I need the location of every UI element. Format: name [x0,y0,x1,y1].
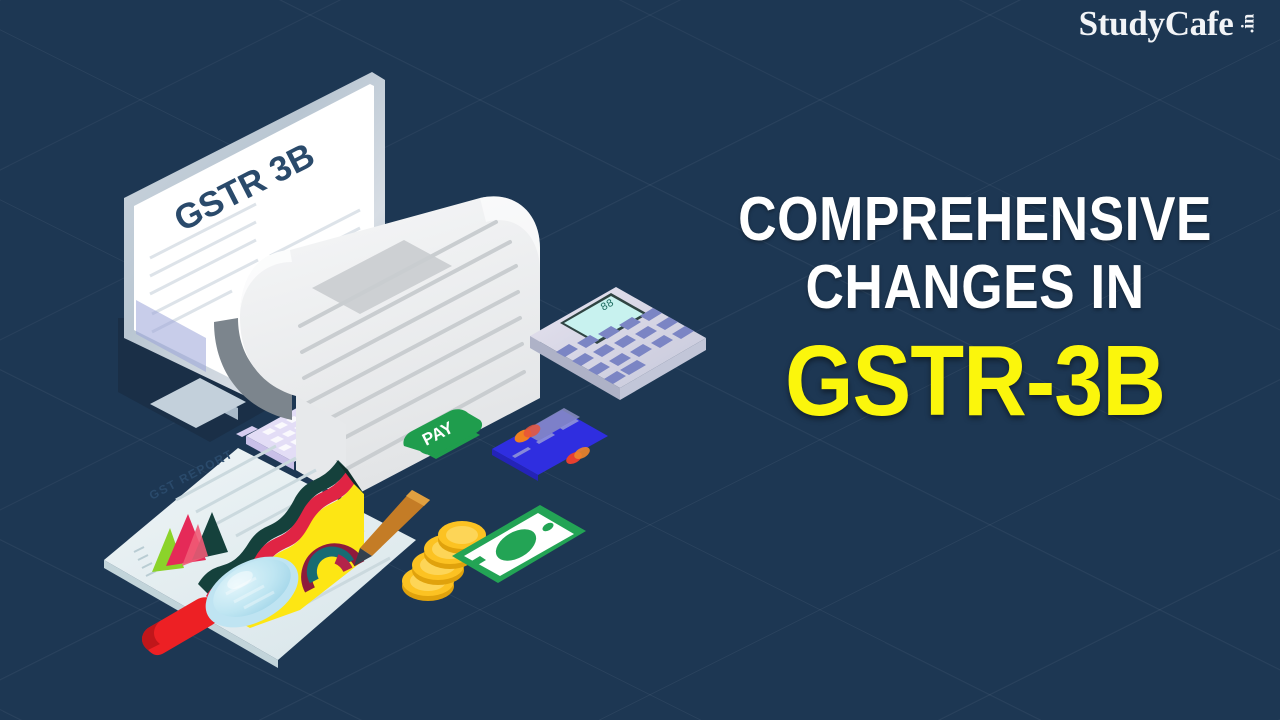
logo-tld: .in [1238,14,1259,34]
gstr3b-illustration: GSTR 3B [0,0,730,720]
headline-block: COMPREHENSIVE CHANGES IN GSTR-3B [690,190,1260,431]
headline-line-2: CHANGES IN [730,258,1220,318]
logo-wordmark: StudyCafe [1079,6,1234,41]
credit-card-group [492,408,608,481]
banner-canvas: GSTR 3B [0,0,1280,720]
headline-line-1: COMPREHENSIVE [730,190,1220,250]
calculator-group: 88 [530,287,706,400]
headline-accent: GSTR-3B [724,331,1226,431]
studycafe-logo[interactable]: StudyCafe .in [1079,6,1258,41]
